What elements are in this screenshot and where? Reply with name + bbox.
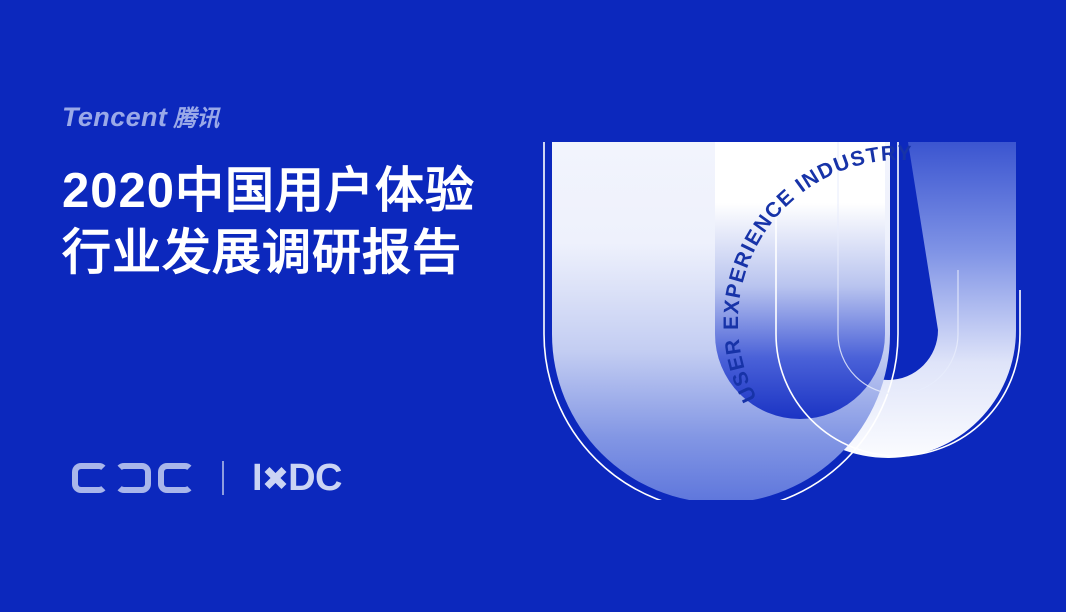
logo-divider [222, 461, 224, 495]
page-title-line-1: 2020中国用户体验 [62, 161, 532, 223]
tencent-logo-chinese: 腾讯 [173, 105, 219, 131]
presentation-cover-slide: Tencent腾讯 2020中国用户体验 行业发展调研报告 I DC [0, 0, 1066, 612]
cdc-logo [72, 463, 194, 493]
cdc-letter-d-icon [115, 463, 151, 493]
ixdc-letters-dc: DC [288, 459, 342, 497]
page-title: 2020中国用户体验 行业发展调研报告 [62, 161, 532, 284]
page-title-line-2: 行业发展调研报告 [62, 223, 532, 285]
title-block: Tencent腾讯 2020中国用户体验 行业发展调研报告 [62, 104, 532, 284]
partner-logo-lockup: I DC [72, 455, 342, 501]
tencent-logo: Tencent腾讯 [62, 104, 532, 131]
cdc-letter-c-2-icon [158, 463, 194, 493]
ixdc-logo: I DC [252, 459, 342, 497]
cdc-letter-c-1-icon [72, 463, 108, 493]
tencent-logo-latin: Tencent [62, 102, 167, 132]
u-shape-graphic: USER EXPERIENCE INDUSTRY SURVEY [540, 120, 1060, 500]
ixdc-letter-i: I [252, 459, 262, 497]
ixdc-cross-icon [263, 466, 287, 490]
